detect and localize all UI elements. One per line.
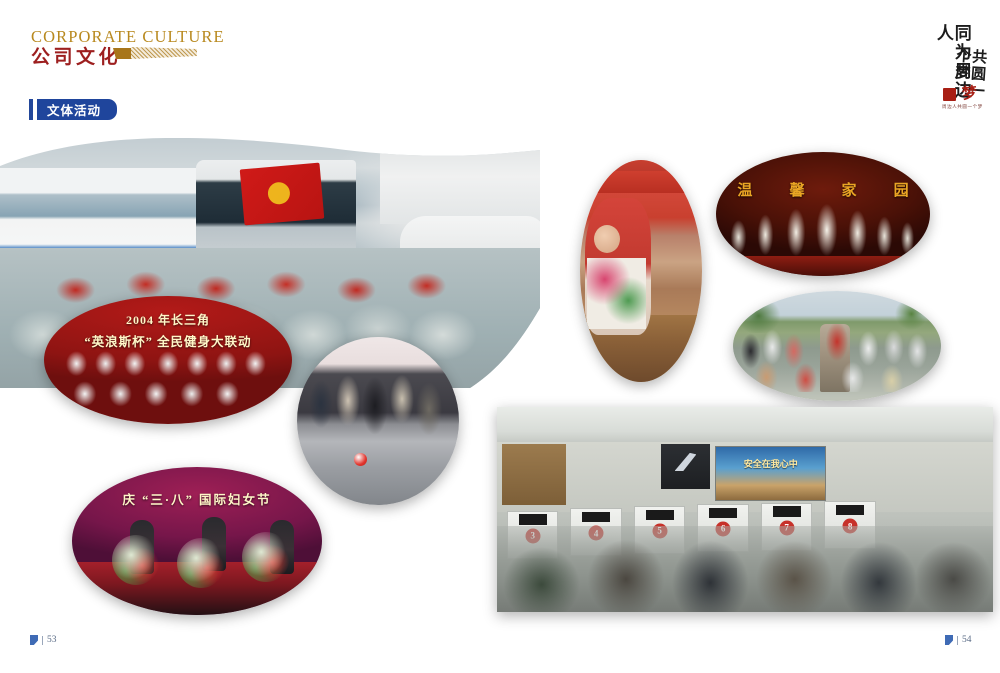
knowledge-competition-photo: 安全在我心中 3 4 5 6 7 (497, 407, 993, 612)
score-display (836, 505, 864, 515)
backdrop-char-1: 温 (737, 179, 752, 200)
page-number-divider (42, 636, 43, 645)
cooking-contest-photo (580, 160, 702, 382)
brochure-spread: CORPORATE CULTURE 公司文化 文体活动 同为周边人 共圆一个梦 … (0, 0, 1000, 673)
outing-participants (739, 324, 935, 392)
elderly-gateball-photo (297, 337, 459, 505)
stage-performance-photo: 温 馨 家 园 (716, 152, 930, 276)
elderly-players (303, 362, 452, 446)
title-bar-hatched-band (131, 47, 197, 59)
hall-ceiling (497, 407, 993, 442)
score-display (773, 506, 801, 516)
backdrop-char-2: 馨 (789, 179, 804, 200)
background-building (380, 138, 540, 224)
page-number-right-value: 54 (962, 635, 972, 645)
outdoor-group-photo (733, 291, 941, 401)
backdrop-char-3: 家 (842, 179, 857, 200)
score-display (709, 508, 737, 518)
page-number-right: 54 (945, 635, 972, 645)
company-logo-plate (661, 444, 711, 489)
calligraphy-small-text: 周边人共圆一个梦 (942, 104, 983, 110)
floral-apron (587, 258, 646, 329)
flower-arrangement-right (242, 532, 290, 582)
score-display (519, 514, 547, 524)
audience-seating (497, 526, 993, 612)
participant-face (594, 225, 620, 253)
gateball-ball (354, 453, 367, 466)
backdrop-char-4: 园 (894, 179, 909, 200)
dance-performers (727, 200, 920, 260)
page-marker-icon (30, 635, 38, 645)
title-decoration-bar (113, 47, 197, 60)
page-title-chinese: 公司文化 (31, 42, 121, 69)
projection-screen: 安全在我心中 (715, 446, 826, 501)
flower-arrangement-left (112, 535, 160, 585)
title-bar-solid-block (113, 48, 131, 59)
team-front-row (69, 373, 267, 411)
page-number-divider (957, 636, 958, 645)
section-tab-cultural-sports[interactable]: 文体活动 (29, 99, 117, 120)
calligraphy-slogan: 同为周边人 共圆一个梦 梦 周边人共圆一个梦 (930, 22, 992, 114)
wood-wall-panel-right (904, 438, 988, 512)
score-display (582, 512, 610, 522)
sports-banner-line-1: 2004 年长三角 (44, 311, 292, 328)
section-tab-label: 文体活动 (37, 99, 117, 120)
sports-team-photo: 2004 年长三角 “英浪斯杯” 全民健身大联动 (44, 296, 292, 424)
section-tab-rule (29, 99, 33, 120)
red-flag (240, 163, 325, 226)
womens-day-flower-photo: 庆 “三·八” 国际妇女节 (72, 467, 322, 615)
wood-wall-panel-left (502, 444, 566, 506)
calligraphy-seal-character: 梦 (961, 81, 978, 103)
page-marker-icon (945, 635, 953, 645)
contest-banner (580, 171, 702, 193)
score-display (646, 510, 674, 520)
womens-day-banner-text: 庆 “三·八” 国际妇女节 (72, 489, 322, 508)
page-number-left-value: 53 (47, 635, 57, 645)
calligraphy-seal-stamp (943, 88, 956, 101)
projection-screen-text: 安全在我心中 (716, 457, 825, 470)
stage-floor (716, 256, 930, 276)
flower-arrangement-center (177, 538, 225, 588)
page-number-left: 53 (30, 635, 57, 645)
